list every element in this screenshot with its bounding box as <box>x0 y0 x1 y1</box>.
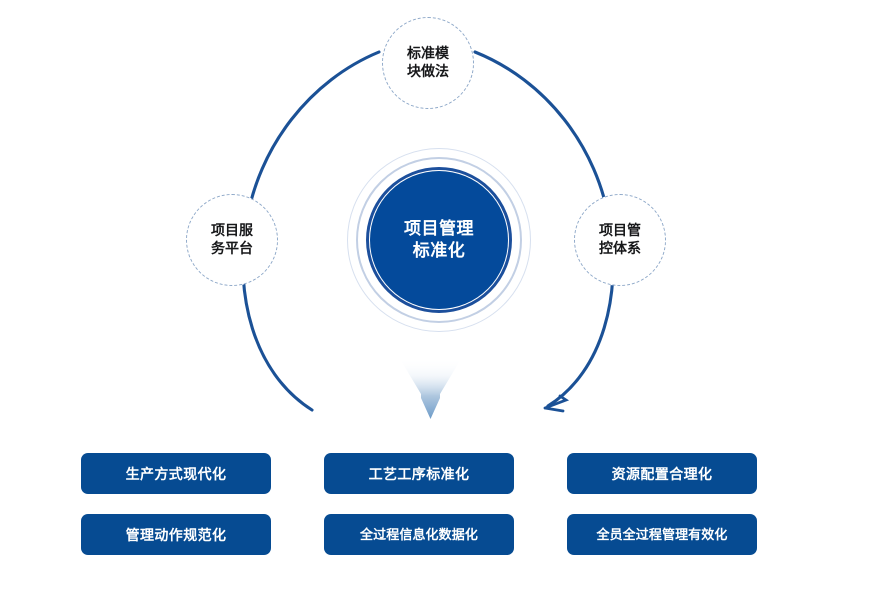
outcome-pill-3[interactable]: 资源配置合理化 <box>567 453 757 494</box>
hub-core: 项目管理 标准化 <box>370 171 508 309</box>
down-arrow-icon <box>399 358 462 420</box>
satellite-node-left[interactable]: 项目服 务平台 <box>186 194 278 286</box>
outcome-pill-4[interactable]: 管理动作规范化 <box>81 514 271 555</box>
arc-arrowhead-icon <box>545 396 566 411</box>
outcome-pill-5[interactable]: 全过程信息化数据化 <box>324 514 514 555</box>
satellite-node-right[interactable]: 项目管 控体系 <box>574 194 666 286</box>
outcome-pill-grid: 生产方式现代化 工艺工序标准化 资源配置合理化 管理动作规范化 全过程信息化数据… <box>81 453 758 556</box>
diagram-canvas: 项目管理 标准化 标准模 块做法 项目服 务平台 项目管 控体系 生产方式现代化… <box>0 0 884 590</box>
center-hub[interactable]: 项目管理 标准化 <box>347 148 531 332</box>
outcome-pill-1[interactable]: 生产方式现代化 <box>81 453 271 494</box>
outcome-pill-6[interactable]: 全员全过程管理有效化 <box>567 514 757 555</box>
satellite-node-top[interactable]: 标准模 块做法 <box>382 17 474 109</box>
satellite-label-top: 标准模 块做法 <box>407 45 449 81</box>
satellite-label-left: 项目服 务平台 <box>211 222 253 258</box>
outcome-pill-2[interactable]: 工艺工序标准化 <box>324 453 514 494</box>
hub-label: 项目管理 标准化 <box>404 218 474 263</box>
satellite-label-right: 项目管 控体系 <box>599 222 641 258</box>
